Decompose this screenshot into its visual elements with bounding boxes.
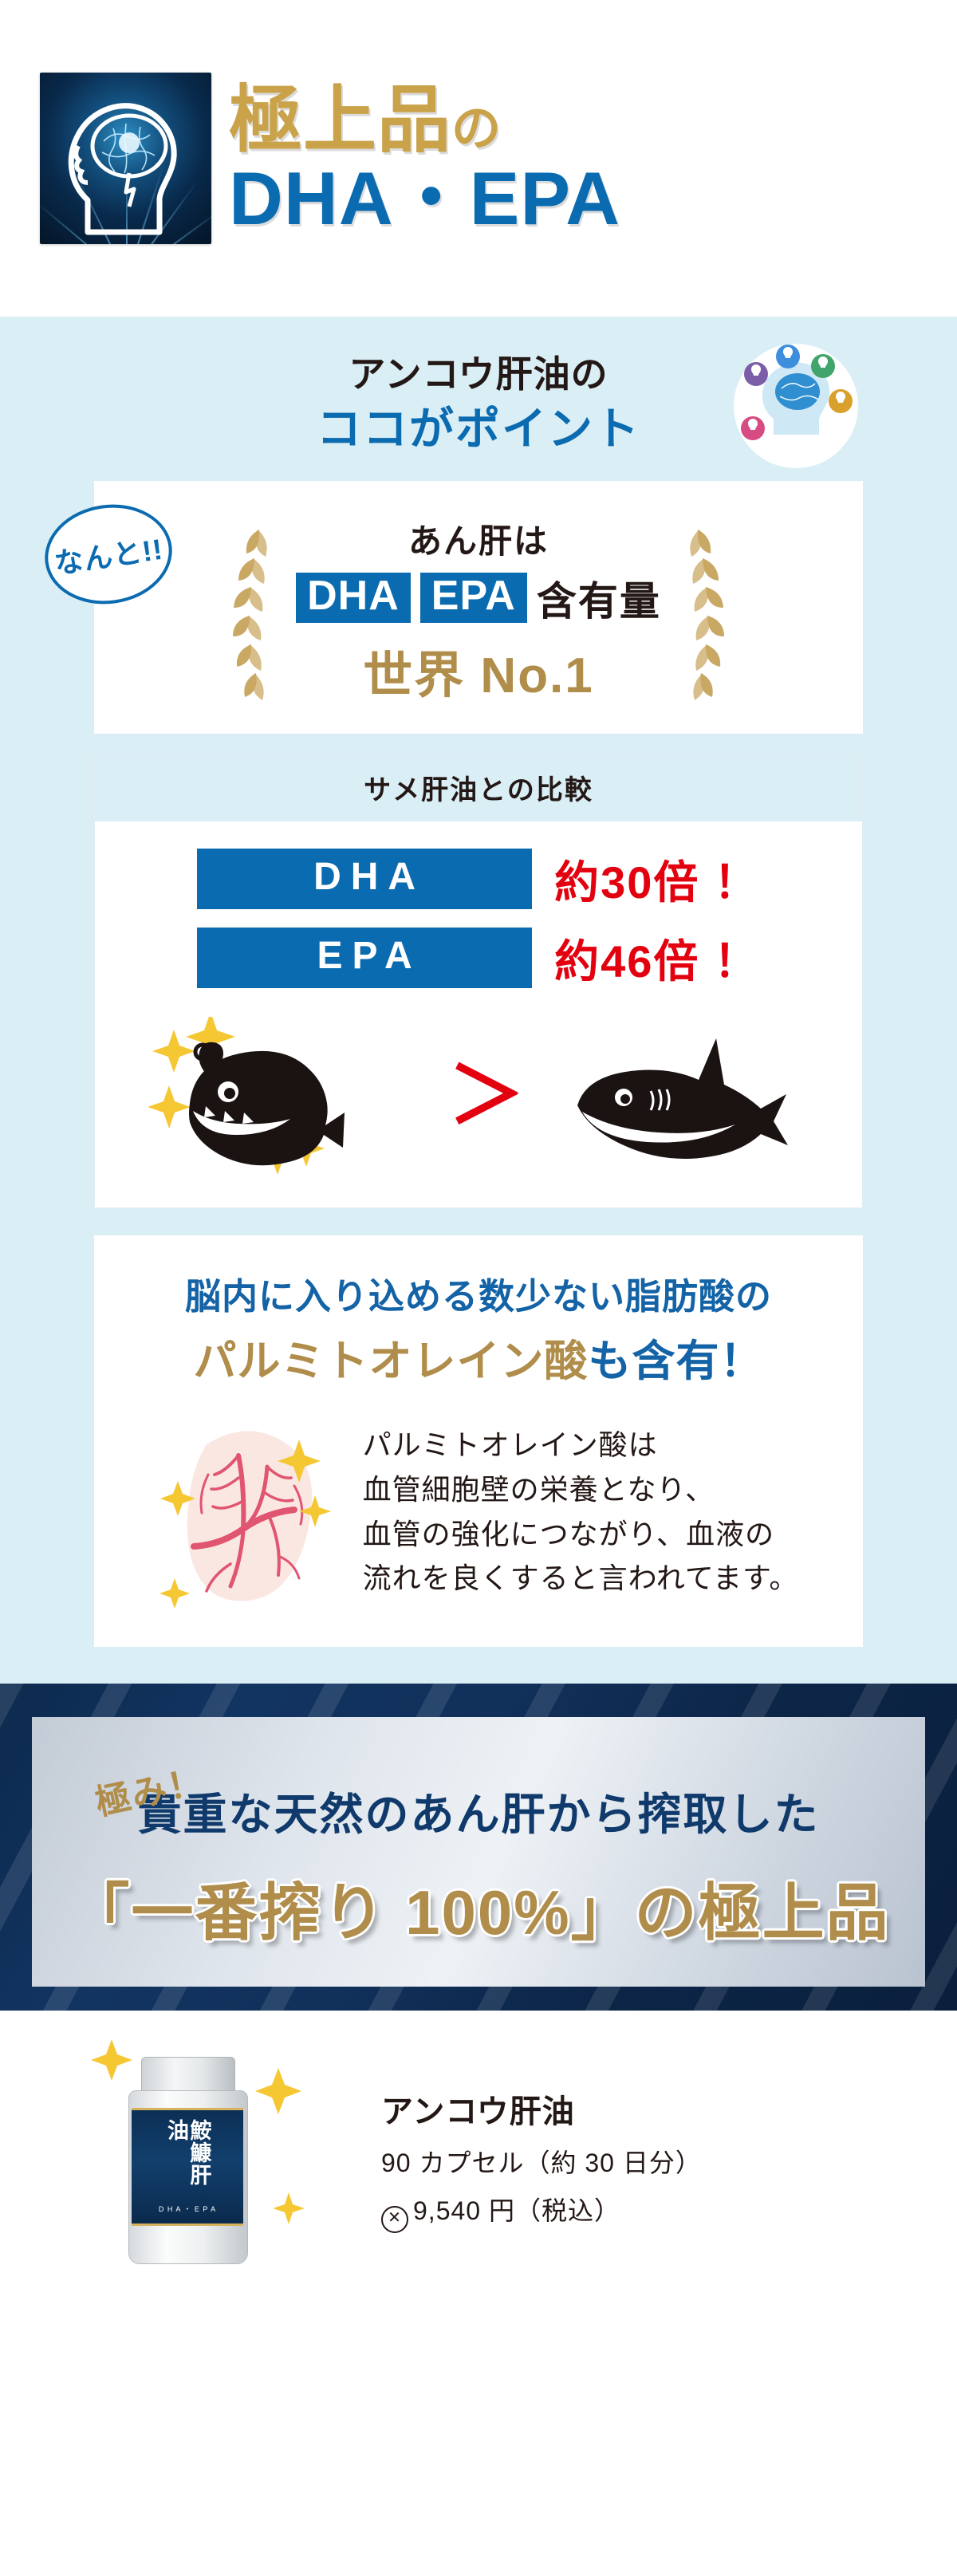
head-silhouette-icon bbox=[40, 73, 211, 244]
product-section: 鮟鱇肝油 D H A ・ E P A アンコウ肝油 90 カプセル（約 30 日… bbox=[0, 2011, 957, 2263]
hero-title-gold-suffix: の bbox=[451, 101, 502, 156]
world-rank-label: 世界 No.1 bbox=[296, 635, 661, 707]
ganyuryo-label: 含有量 bbox=[537, 569, 661, 627]
product-info: アンコウ肝油 90 カプセル（約 30 日分） ✕9,540 円（税込） bbox=[375, 2086, 702, 2233]
world-no1-card: あん肝は DHA EPA 含有量 世界 No.1 bbox=[94, 481, 863, 734]
idea-bulbs-brain-icon bbox=[729, 339, 863, 473]
anglerfish-icon bbox=[148, 1017, 412, 1176]
banner-line2: 「一番搾り 100%」の極上品 bbox=[67, 1863, 889, 1952]
circled-x-icon: ✕ bbox=[381, 2206, 408, 2233]
greater-than-symbol: ＞ bbox=[448, 1058, 525, 1135]
brain-blood-vessel-icon bbox=[159, 1412, 342, 1612]
palmitoleic-heading-line2: パルミトオレイン酸も含有！ bbox=[94, 1325, 863, 1388]
product-bottle-image: 鮟鱇肝油 D H A ・ E P A bbox=[120, 2057, 254, 2263]
bottle-label: 鮟鱇肝油 D H A ・ E P A bbox=[132, 2108, 243, 2226]
palmitoleic-line2: 血管細胞壁の栄養となり、 bbox=[363, 1467, 799, 1512]
shark-icon bbox=[561, 1029, 809, 1164]
world-no1-content: あん肝は DHA EPA 含有量 世界 No.1 bbox=[94, 514, 863, 707]
laurel-right-icon bbox=[675, 518, 744, 702]
comparison-row-value: 約46倍 ！ bbox=[554, 926, 760, 991]
banner-inner-panel: 極み！ 貴重な天然のあん肝から搾取した 「一番搾り 100%」の極上品 bbox=[32, 1717, 925, 1987]
sparkle-icon bbox=[271, 2191, 306, 2226]
bottle-label-jp: 鮟鱇肝油 bbox=[165, 2119, 211, 2202]
product-price: 9,540 円（税込） bbox=[413, 2196, 620, 2225]
palmitoleic-heading-tail: も含有！ bbox=[589, 1337, 764, 1385]
point-heading: アンコウ肝油の ココがポイント bbox=[0, 317, 957, 457]
bottle-label-en: D H A ・ E P A bbox=[159, 2204, 216, 2214]
product-image-wrap: 鮟鱇肝油 D H A ・ E P A bbox=[0, 2057, 375, 2263]
palmitoleic-card: 脳内に入り込める数少ない脂肪酸の パルミトオレイン酸も含有！ bbox=[94, 1235, 863, 1647]
banner-line1: 貴重な天然のあん肝から搾取した bbox=[137, 1778, 819, 1842]
point-section: アンコウ肝油の ココがポイント bbox=[0, 317, 957, 1684]
tag-epa: EPA bbox=[420, 573, 527, 623]
hero-title-gold: 極上品の bbox=[229, 85, 620, 156]
sparkle-icon bbox=[254, 2066, 303, 2116]
brain-head-icon bbox=[40, 73, 211, 244]
comparison-header: サメ肝油との比較 bbox=[95, 755, 862, 821]
palmitoleic-heading-line1: 脳内に入り込める数少ない脂肪酸の bbox=[94, 1267, 863, 1319]
palmitoleic-paragraph: パルミトオレイン酸は 血管細胞壁の栄養となり、 血管の強化につながり、血液の 流… bbox=[363, 1423, 799, 1601]
comparison-card: サメ肝油との比較 DHA 約30倍 ！ EPA 約46倍 ！ bbox=[94, 754, 863, 1208]
palmitoleic-body: パルミトオレイン酸は 血管細胞壁の栄養となり、 血管の強化につながり、血液の 流… bbox=[94, 1412, 863, 1612]
hero-section: 極上品の DHA・EPA bbox=[0, 0, 957, 317]
palmitoleic-line1: パルミトオレイン酸は bbox=[363, 1423, 799, 1467]
laurel-left-icon bbox=[213, 518, 282, 702]
world-no1-text: あん肝は DHA EPA 含有量 世界 No.1 bbox=[296, 514, 661, 707]
ad-page: 極上品の DHA・EPA アンコウ肝油の ココがポイント bbox=[0, 0, 957, 2576]
palmitoleic-line4: 流れを良くすると言われてます。 bbox=[363, 1556, 799, 1601]
comparison-body: DHA 約30倍 ！ EPA 約46倍 ！ bbox=[95, 821, 862, 1207]
palmitoleic-line3: 血管の強化につながり、血液の bbox=[363, 1512, 799, 1557]
comparison-row: DHA 約30倍 ！ bbox=[95, 847, 862, 912]
premium-banner: 極み！ 貴重な天然のあん肝から搾取した 「一番搾り 100%」の極上品 bbox=[0, 1684, 957, 2011]
comparison-row-value: 約30倍 ！ bbox=[554, 847, 760, 912]
hero-title-gold-main: 極上品 bbox=[229, 80, 451, 161]
product-spec: 90 カプセル（約 30 日分） bbox=[381, 2143, 702, 2180]
comparison-row-label: DHA bbox=[197, 849, 532, 910]
nanto-badge-label: なんと!! bbox=[52, 526, 166, 583]
hero-title: 極上品の DHA・EPA bbox=[229, 80, 620, 236]
palmitoleic-name: パルミトオレイン酸 bbox=[194, 1337, 589, 1385]
hero-title-blue: DHA・EPA bbox=[229, 160, 620, 237]
product-price-row: ✕9,540 円（税込） bbox=[381, 2191, 702, 2233]
fish-comparison-illustration: ＞ bbox=[95, 1005, 862, 1188]
product-name: アンコウ肝油 bbox=[381, 2086, 702, 2132]
tag-dha: DHA bbox=[296, 573, 411, 623]
comparison-row: EPA 約46倍 ！ bbox=[95, 926, 862, 991]
anki-lead: あん肝は bbox=[296, 514, 661, 563]
dha-epa-badges: DHA EPA 含有量 bbox=[296, 569, 661, 627]
brain-vessels-illustration bbox=[159, 1412, 342, 1612]
comparison-row-label: EPA bbox=[197, 928, 532, 989]
bottle-cap bbox=[141, 2057, 235, 2093]
